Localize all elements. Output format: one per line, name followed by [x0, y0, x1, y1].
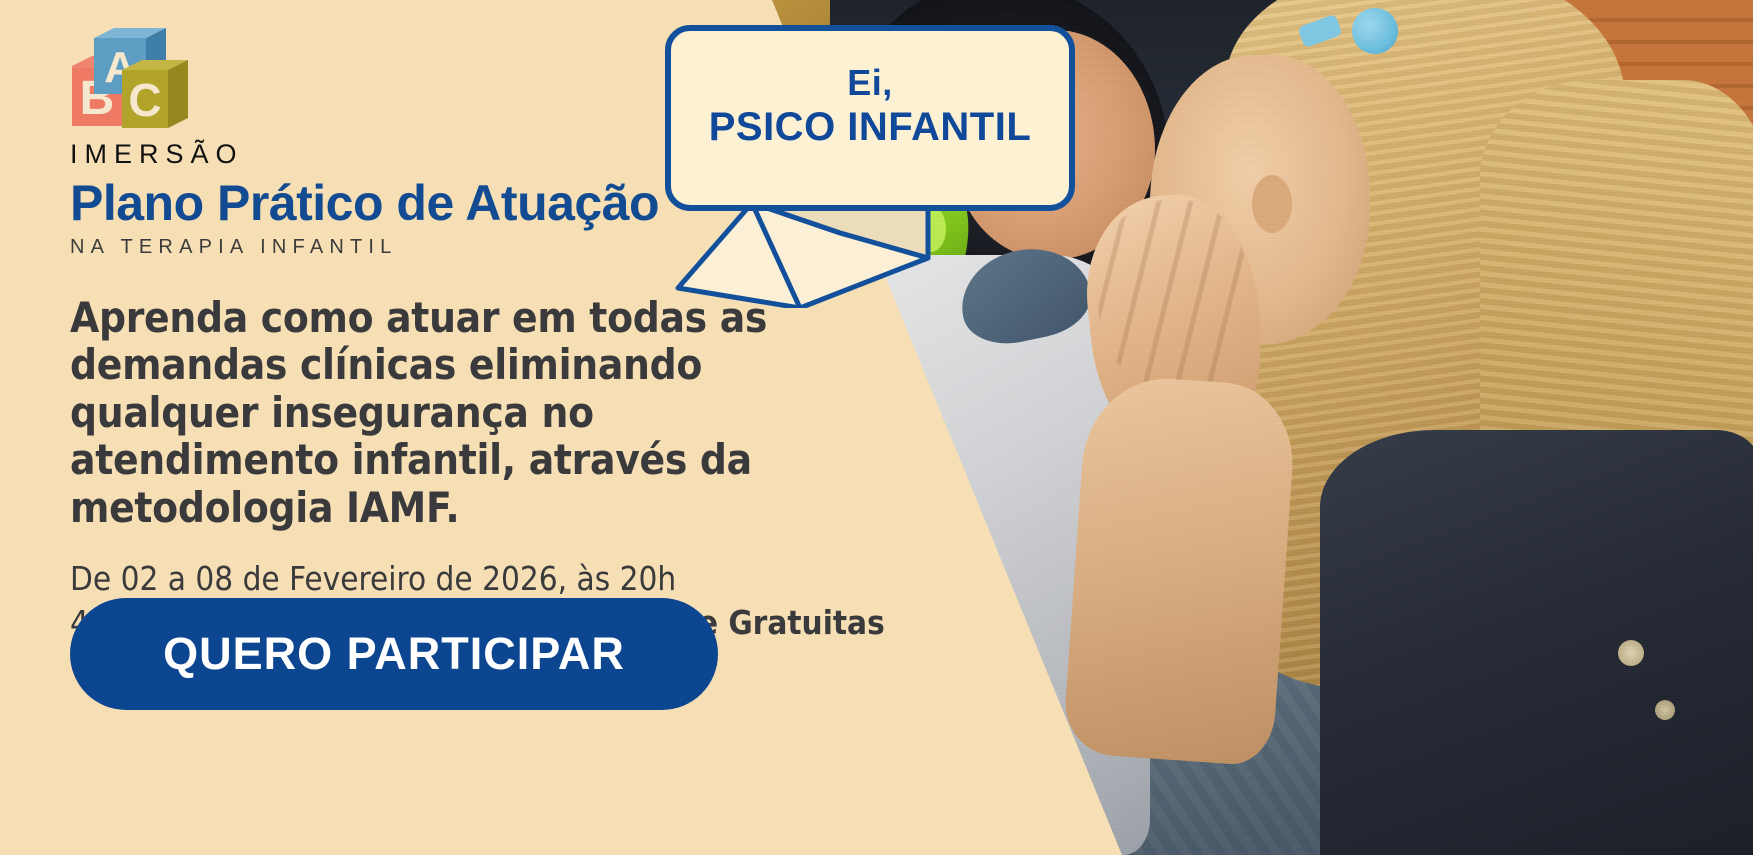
photo-girl-arm	[1062, 373, 1298, 767]
photo-girl-fingers	[1098, 200, 1248, 390]
promo-banner: B A C IMERSÃO Plano Prático de Atuação N…	[0, 0, 1753, 855]
photo-shirt-pattern	[1618, 640, 1644, 666]
block-c-icon: C	[122, 60, 188, 128]
lead-paragraph: Aprenda como atuar em todas as demandas …	[70, 294, 830, 531]
event-date-line: De 02 a 08 de Fevereiro de 2026, às 20h	[70, 559, 676, 598]
quero-participar-button[interactable]: QUERO PARTICIPAR	[70, 598, 718, 710]
photo-girl-shirt	[1320, 430, 1753, 855]
abc-blocks-logo: B A C	[70, 26, 190, 132]
photo-shirt-pattern-2	[1655, 700, 1675, 720]
svg-text:C: C	[128, 74, 161, 126]
speech-bubble: Ei, PSICO INFANTIL	[660, 18, 1080, 308]
photo-hair-clip	[1352, 8, 1398, 54]
speech-bubble-shape	[660, 18, 1080, 308]
photo-girl-ear	[1252, 175, 1292, 233]
